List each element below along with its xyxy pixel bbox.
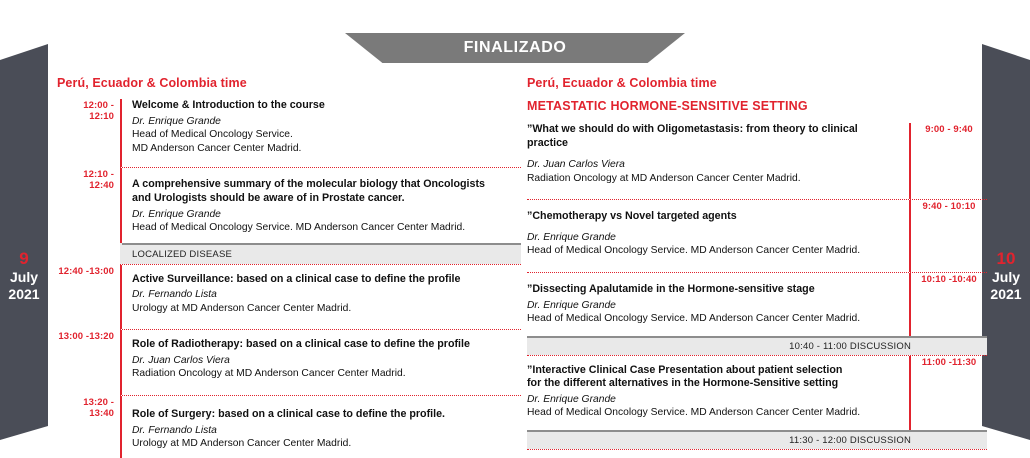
status-banner: FINALIZADO	[345, 33, 685, 63]
discussion-band: 10:40 - 11:00 DISCUSSION	[527, 336, 987, 355]
section-band-label: LOCALIZED DISEASE	[120, 249, 232, 260]
day-tab-right-content: 10 July 2021	[982, 249, 1030, 302]
session-affiliation: Head of Medical Oncology Service. MD And…	[527, 312, 899, 326]
session-speaker: Dr. Enrique Grande	[132, 208, 521, 221]
session-body: Active Surveillance: based on a clinical…	[122, 265, 521, 330]
status-banner-label: FINALIZADO	[464, 39, 567, 57]
session-speaker: Dr. Enrique Grande	[527, 393, 899, 406]
session-speaker: Dr. Enrique Grande	[527, 231, 899, 244]
session-affiliation: Urology at MD Anderson Cancer Center Mad…	[132, 437, 521, 451]
session-body: ”Interactive Clinical Case Presentation …	[527, 356, 909, 430]
session-affiliation: Head of Medical Oncology Service. MD And…	[132, 221, 521, 235]
discussion-band-label: 10:40 - 11:00 DISCUSSION	[789, 341, 911, 352]
agenda-row[interactable]: ”Chemotherapy vs Novel targeted agents D…	[527, 200, 987, 272]
session-speaker: Dr. Fernando Lista	[132, 424, 521, 437]
session-time: 13:00 -13:20	[57, 330, 120, 395]
session-time: 10:10 -10:40	[911, 273, 987, 336]
section-title-metastatic: METASTATIC HORMONE-SENSITIVE SETTING	[527, 99, 987, 113]
timezone-title-right: Perú, Ecuador & Colombia time	[527, 76, 987, 90]
session-body: A comprehensive summary of the molecular…	[122, 168, 521, 242]
session-body: Role of Radiotherapy: based on a clinica…	[122, 330, 521, 395]
agenda-column-day-10: Perú, Ecuador & Colombia time METASTATIC…	[527, 76, 987, 450]
band-accent-bar	[120, 243, 122, 264]
session-title: ”Dissecting Apalutamide in the Hormone-s…	[527, 283, 899, 297]
session-title: Welcome & Introduction to the course	[132, 99, 521, 113]
day-tab-left-content: 9 July 2021	[0, 249, 48, 302]
discussion-band: 11:30 - 12:00 DISCUSSION	[527, 430, 987, 449]
session-affiliation: MD Anderson Cancer Center Madrid.	[132, 142, 521, 156]
session-time: 11:00 -11:30	[911, 356, 987, 430]
agenda-row[interactable]: 13:00 -13:20 Role of Radiotherapy: based…	[57, 330, 521, 395]
agenda-row[interactable]: 12:40 -13:00 Active Surveillance: based …	[57, 265, 521, 330]
session-title: ”What we should do with Oligometastasis:…	[527, 123, 899, 150]
session-title: ”Interactive Clinical Case Presentation …	[527, 364, 899, 378]
agenda-row[interactable]: 12:00 - 12:10 Welcome & Introduction to …	[57, 99, 521, 167]
session-title: Role of Surgery: based on a clinical cas…	[132, 408, 521, 422]
day-tab-left-day: 9	[0, 249, 48, 269]
session-affiliation: Urology at MD Anderson Cancer Center Mad…	[132, 302, 521, 316]
session-title: and Urologists should be aware of in Pro…	[132, 192, 521, 206]
day-tab-right[interactable]: 10 July 2021	[982, 44, 1030, 440]
agenda-column-day-9: Perú, Ecuador & Colombia time 12:00 - 12…	[57, 76, 521, 458]
session-body: Welcome & Introduction to the course Dr.…	[122, 99, 521, 167]
agenda-row[interactable]: ”Dissecting Apalutamide in the Hormone-s…	[527, 273, 987, 336]
agenda-row[interactable]: ”What we should do with Oligometastasis:…	[527, 123, 987, 199]
session-time: 12:00 - 12:10	[57, 99, 120, 167]
session-affiliation: Head of Medical Oncology Service.	[132, 128, 521, 142]
session-speaker: Dr. Fernando Lista	[132, 288, 521, 301]
session-time: 9:00 - 9:40	[911, 123, 987, 199]
session-affiliation: Radiation Oncology at MD Anderson Cancer…	[132, 367, 521, 381]
session-title: Active Surveillance: based on a clinical…	[132, 273, 521, 287]
session-body: ”Chemotherapy vs Novel targeted agents D…	[527, 200, 909, 272]
session-time: 9:40 - 10:10	[911, 200, 987, 272]
session-affiliation: Radiation Oncology at MD Anderson Cancer…	[527, 172, 899, 186]
session-time: 12:40 -13:00	[57, 265, 120, 330]
session-title: A comprehensive summary of the molecular…	[132, 178, 521, 192]
timezone-title-left: Perú, Ecuador & Colombia time	[57, 76, 521, 90]
session-time: 12:10 - 12:40	[57, 168, 120, 242]
day-tab-right-year: 2021	[982, 286, 1030, 303]
session-speaker: Dr. Enrique Grande	[527, 299, 899, 312]
day-tab-right-month: July	[982, 269, 1030, 286]
session-speaker: Dr. Enrique Grande	[132, 115, 521, 128]
session-affiliation: Head of Medical Oncology Service. MD And…	[527, 406, 899, 420]
day-tab-left-month: July	[0, 269, 48, 286]
discussion-band-label: 11:30 - 12:00 DISCUSSION	[789, 435, 911, 446]
session-body: ”What we should do with Oligometastasis:…	[527, 123, 909, 199]
session-title: ”Chemotherapy vs Novel targeted agents	[527, 210, 899, 224]
session-body: ”Dissecting Apalutamide in the Hormone-s…	[527, 273, 909, 336]
agenda-row[interactable]: ”Interactive Clinical Case Presentation …	[527, 356, 987, 430]
agenda-row[interactable]: 13:20 - 13:40 Role of Surgery: based on …	[57, 396, 521, 458]
session-affiliation: Head of Medical Oncology Service. MD And…	[527, 244, 899, 258]
section-band-localized-disease: LOCALIZED DISEASE	[120, 243, 521, 264]
session-body: Role of Surgery: based on a clinical cas…	[122, 396, 521, 458]
session-time: 13:20 - 13:40	[57, 396, 120, 458]
session-speaker: Dr. Juan Carlos Viera	[527, 158, 899, 171]
day-tab-left-year: 2021	[0, 286, 48, 303]
session-speaker: Dr. Juan Carlos Viera	[132, 354, 521, 367]
day-tab-right-day: 10	[982, 249, 1030, 269]
day-tab-left[interactable]: 9 July 2021	[0, 44, 48, 440]
session-title: Role of Radiotherapy: based on a clinica…	[132, 338, 521, 352]
agenda-row[interactable]: 12:10 - 12:40 A comprehensive summary of…	[57, 168, 521, 242]
session-title: for the different alternatives in the Ho…	[527, 377, 899, 391]
